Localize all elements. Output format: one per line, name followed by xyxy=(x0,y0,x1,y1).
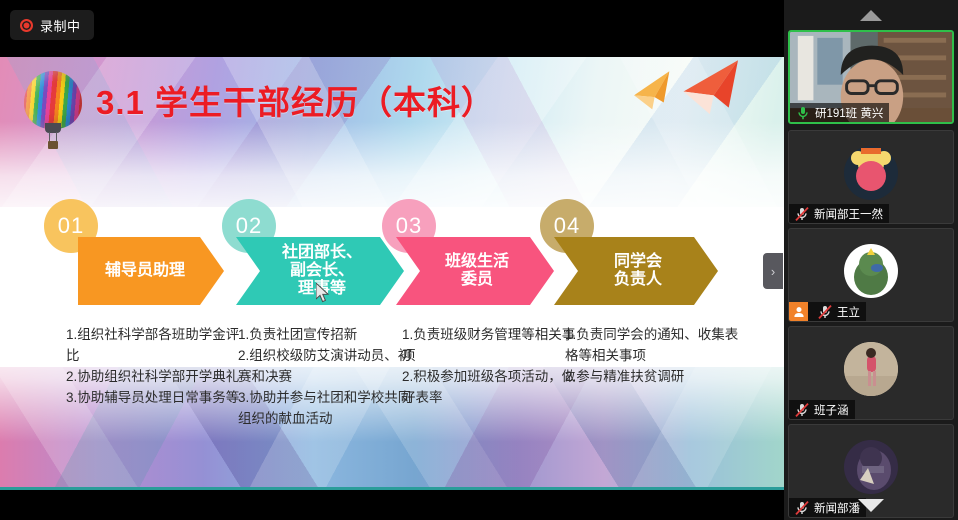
shared-content-area: 录制中 3.1 学生干部经历（本科） 01辅导员助理02社团部长、 副会长、 理 xyxy=(0,0,784,520)
participant-name-bar: 王立 xyxy=(789,302,866,321)
recording-indicator: 录制中 xyxy=(10,10,94,40)
participant-name: 班子涵 xyxy=(814,402,849,418)
hot-air-balloon-icon xyxy=(24,71,82,151)
participant-name-bar: 研191班 黄兴 xyxy=(790,103,889,122)
participant-name: 研191班 黄兴 xyxy=(815,105,883,121)
participant-name: 新闻部王一然 xyxy=(814,206,883,222)
step-details-02: 1.负责社团宣传招新 2.组织校级防艾演讲动员、初赛和决赛 3.协助并参与社团和… xyxy=(238,325,413,430)
participant-tile[interactable]: 王立 xyxy=(788,228,954,322)
mic-muted-icon xyxy=(794,206,810,222)
mic-muted-icon xyxy=(794,500,810,516)
participant-name-bar: 新闻部潘 xyxy=(789,498,866,517)
participant-tile[interactable]: 新闻部王一然 xyxy=(788,130,954,224)
step-details-03: 1.负责班级财务管理等相关事项 2.积极参加班级各项活动，做好表率 xyxy=(402,325,577,409)
collapse-share-button[interactable]: › xyxy=(763,253,783,289)
avatar xyxy=(844,342,898,396)
avatar xyxy=(844,146,898,200)
record-dot-icon xyxy=(20,19,33,32)
avatar xyxy=(844,244,898,298)
step-arrow-04: 同学会 负责人 xyxy=(554,237,718,305)
page-title: 3.1 学生干部经历（本科） xyxy=(96,76,495,124)
participant-name-bar: 新闻部王一然 xyxy=(789,204,889,223)
process-arrow-row: 01辅导员助理02社团部长、 副会长、 理事等03班级生活 委员04同学会 负责… xyxy=(0,199,784,309)
step-details-01: 1.组织社科学部各班助学金评比 2.协助组织社科学部开学典礼 3.协助辅导员处理… xyxy=(66,325,241,409)
presentation-slide: 3.1 学生干部经历（本科） 01辅导员助理02社团部长、 副会长、 理事等03… xyxy=(0,57,784,490)
step-arrow-03: 班级生活 委员 xyxy=(396,237,554,305)
participant-name: 新闻部潘 xyxy=(814,500,860,516)
step-arrow-01: 辅导员助理 xyxy=(78,237,224,305)
mic-active-icon xyxy=(795,105,811,121)
recording-label: 录制中 xyxy=(40,16,81,35)
participant-strip: 研191班 黄兴新闻部王一然王立班子涵新闻部潘 xyxy=(784,0,958,520)
avatar xyxy=(844,440,898,494)
participant-tile[interactable]: 研191班 黄兴 xyxy=(788,30,954,124)
participant-name: 王立 xyxy=(837,304,860,320)
host-badge-icon xyxy=(789,302,808,321)
participant-name-bar: 班子涵 xyxy=(789,400,855,419)
meeting-window: 录制中 3.1 学生干部经历（本科） 01辅导员助理02社团部长、 副会长、 理 xyxy=(0,0,958,520)
process-description-row: 1.组织社科学部各班助学金评比 2.协助组织社科学部开学典礼 3.协助辅导员处理… xyxy=(0,325,784,475)
participant-tile[interactable]: 班子涵 xyxy=(788,326,954,420)
chevron-down-icon[interactable] xyxy=(858,499,884,512)
mic-muted-icon xyxy=(817,304,833,320)
step-details-04: 1.负责同学会的通知、收集表格等相关事项 2.参与精准扶贫调研 xyxy=(565,325,740,388)
mic-muted-icon xyxy=(794,402,810,418)
chevron-up-icon[interactable] xyxy=(860,10,882,21)
mouse-cursor xyxy=(316,283,330,303)
